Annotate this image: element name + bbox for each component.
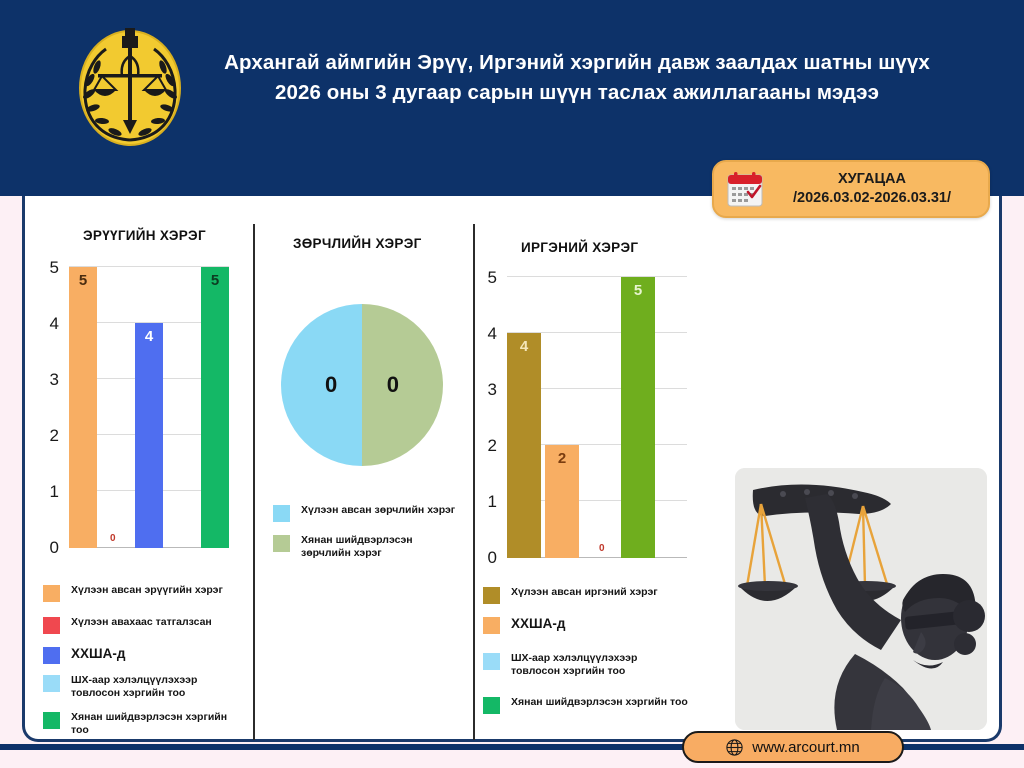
bar-criminal-resolved[interactable]: 5 [201,267,229,548]
globe-icon [726,739,743,756]
bar-value-zero-refused: 0 [110,533,116,544]
website-badge[interactable]: www.arcourt.mn [682,731,904,763]
pie-slice-received[interactable] [281,304,362,466]
legend-swatch-icon [483,587,500,604]
legend-label: Хүлээн авахаас татгалзсан [71,616,231,629]
period-text: ХУГАЦАА /2026.03.02-2026.03.31/ [764,170,988,208]
legend-swatch-icon [43,647,60,664]
chart-3-ytick-4: 4 [477,324,497,344]
legend-swatch-icon [483,697,500,714]
chart-2-title: ЗӨРЧЛИЙН ХЭРЭГ [293,236,422,251]
legend-item-violation-received[interactable]: Хүлээн авсан зөрчлийн хэрэг [273,504,461,522]
chart-1-title: ЭРҮҮГИЙН ХЭРЭГ [83,228,206,243]
title-line-2: 2026 оны 3 дугаар сарын шүүн таслах ажил… [190,78,964,108]
legend-label: ХХША-д [71,646,231,663]
legend-label: Хянан шийдвэрлэсэн зөрчлийн хэрэг [301,534,461,560]
legend-label: Хянан шийдвэрлэсэн хэргийн тоо [71,711,233,737]
chart-1-ytick-1: 1 [39,482,59,502]
legend-item-civil-received[interactable]: Хүлээн авсан иргэний хэрэг [483,586,691,604]
pie-slice-resolved[interactable] [362,304,443,466]
legend-item-criminal-refused[interactable]: Хүлээн авахаас татгалзсан [43,616,231,634]
title-line-1: Архангай аймгийн Эрүү, Иргэний хэргийн д… [190,48,964,78]
chart-1-ytick-2: 2 [39,426,59,446]
legend-swatch-icon [273,505,290,522]
pie-chart[interactable]: 0 0 [281,304,443,466]
mongolia-court-emblem-icon [70,22,190,154]
period-range: /2026.03.02-2026.03.31/ [764,189,980,208]
pie-value-resolved: 0 [387,372,399,398]
legend-swatch-icon [483,653,500,670]
legend-label: ХХША-д [511,616,691,633]
bar-value: 4 [507,338,541,355]
chart-3-ytick-0: 0 [477,548,497,568]
legend-item-criminal-received[interactable]: Хүлээн авсан эрүүгийн хэрэг [43,584,231,602]
bar-criminal-xxsha[interactable]: 4 [135,323,163,548]
chart-3-ytick-1: 1 [477,492,497,512]
legend-swatch-icon [43,617,60,634]
chart-1-plot-area: 5 0 4 5 [69,266,229,548]
chart-3-ytick-2: 2 [477,436,497,456]
legend-swatch-icon [43,585,60,602]
bar-value-zero-scheduled: 0 [599,543,605,554]
legend-swatch-icon [273,535,290,552]
legend-label: ШХ-аар хэлэлцүүлэхээр товлосон хэргийн т… [71,674,233,700]
bar-civil-resolved[interactable]: 5 [621,277,655,558]
calendar-icon [726,170,764,208]
legend-label: Хүлээн авсан иргэний хэрэг [511,586,691,599]
bar-civil-xxsha[interactable]: 2 [545,445,579,558]
bar-criminal-received[interactable]: 5 [69,267,97,548]
panel-divider-2 [473,224,475,740]
chart-1-ytick-5: 5 [39,258,59,278]
legend-label: ШХ-аар хэлэлцүүлэхээр товлосон хэргийн т… [511,652,676,678]
chart-3-plot-area: 4 2 0 5 [507,276,687,558]
legend-label: Хүлээн авсан эрүүгийн хэрэг [71,584,231,597]
bar-value: 5 [201,272,229,289]
gridline [507,276,687,277]
lady-justice-statue-photo [735,468,987,730]
bar-civil-received[interactable]: 4 [507,333,541,558]
legend-item-criminal-scheduled[interactable]: ШХ-аар хэлэлцүүлэхээр товлосон хэргийн т… [43,674,233,700]
legend-item-civil-xxsha[interactable]: ХХША-д [483,616,691,634]
bar-value: 2 [545,450,579,467]
panel-divider-1 [253,224,255,740]
legend-swatch-icon [43,712,60,729]
legend-item-civil-scheduled[interactable]: ШХ-аар хэлэлцүүлэхээр товлосон хэргийн т… [483,652,676,678]
legend-swatch-icon [483,617,500,634]
period-badge: ХУГАЦАА /2026.03.02-2026.03.31/ [712,160,990,218]
legend-item-violation-resolved[interactable]: Хянан шийдвэрлэсэн зөрчлийн хэрэг [273,534,461,560]
legend-item-criminal-xxsha[interactable]: ХХША-д [43,646,231,664]
chart-1-ytick-0: 0 [39,538,59,558]
chart-3-ytick-3: 3 [477,380,497,400]
legend-label: Хүлээн авсан зөрчлийн хэрэг [301,504,461,517]
chart-3-title: ИРГЭНИЙ ХЭРЭГ [521,240,638,255]
bar-value: 5 [69,272,97,289]
chart-3-ytick-5: 5 [477,268,497,288]
legend-swatch-icon [43,675,60,692]
legend-label: Хянан шийдвэрлэсэн хэргийн тоо [511,696,691,709]
period-label: ХУГАЦАА [764,170,980,189]
chart-1-ytick-4: 4 [39,314,59,334]
bar-value: 5 [621,282,655,299]
legend-item-criminal-resolved[interactable]: Хянан шийдвэрлэсэн хэргийн тоо [43,711,233,737]
bar-value: 4 [135,328,163,345]
page-title: Архангай аймгийн Эрүү, Иргэний хэргийн д… [190,22,1024,107]
chart-1-ytick-3: 3 [39,370,59,390]
legend-item-civil-resolved[interactable]: Хянан шийдвэрлэсэн хэргийн тоо [483,696,691,714]
pie-value-received: 0 [325,372,337,398]
website-url: www.arcourt.mn [752,739,860,756]
